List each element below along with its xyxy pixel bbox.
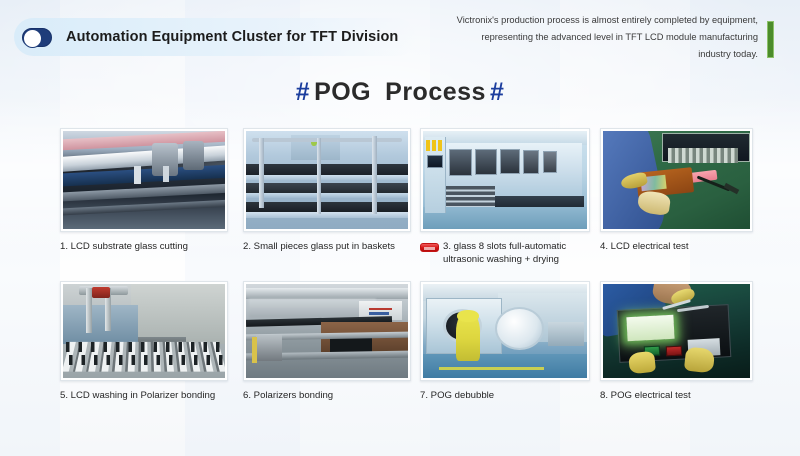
process-row-1: 1. LCD substrate glass cutting 2. Small: [60, 128, 760, 278]
process-step-5-thumbnail[interactable]: [60, 281, 228, 381]
ultrasonic-washing-drying-line-image: [423, 131, 587, 229]
process-step-4-thumbnail[interactable]: [600, 128, 753, 232]
polarizer-bonding-machine-image: [246, 284, 408, 378]
process-step-7-caption-wrap: 7. POG debubble: [420, 390, 598, 403]
section-heading-secondary: Process: [385, 78, 486, 106]
process-step-8-caption: 8. POG electrical test: [600, 390, 691, 403]
process-step-5[interactable]: 5. LCD washing in Polarizer bonding: [60, 281, 235, 403]
process-step-2-thumbnail[interactable]: [243, 128, 411, 232]
process-step-1[interactable]: 1. LCD substrate glass cutting: [60, 128, 235, 254]
process-step-3-caption: 3. glass 8 slots full-automatic ultrason…: [443, 241, 598, 267]
glass-baskets-conveyor-rack-image: [246, 131, 408, 229]
process-step-5-caption-wrap: 5. LCD washing in Polarizer bonding: [60, 390, 235, 403]
process-step-3-caption-wrap: 3. glass 8 slots full-automatic ultrason…: [420, 241, 598, 267]
process-step-1-thumbnail[interactable]: [60, 128, 228, 232]
toggle-switch-icon[interactable]: [22, 28, 52, 47]
process-step-8-caption-wrap: 8. POG electrical test: [600, 390, 760, 403]
process-step-7-caption: 7. POG debubble: [420, 390, 494, 403]
process-step-2-caption: 2. Small pieces glass put in baskets: [243, 241, 395, 254]
process-step-7[interactable]: 7. POG debubble: [420, 281, 598, 403]
header: Automation Equipment Cluster for TFT Div…: [0, 0, 800, 84]
page-title: Automation Equipment Cluster for TFT Div…: [66, 29, 398, 45]
green-accent-bar: [767, 21, 774, 58]
process-step-2[interactable]: 2. Small pieces glass put in baskets: [243, 128, 418, 254]
header-title-pill: Automation Equipment Cluster for TFT Div…: [14, 18, 416, 56]
process-step-5-caption: 5. LCD washing in Polarizer bonding: [60, 390, 215, 403]
process-step-4[interactable]: 4. LCD electrical test: [600, 128, 760, 254]
lcd-washing-roller-conveyor-image: [63, 284, 225, 378]
process-step-2-caption-wrap: 2. Small pieces glass put in baskets: [243, 241, 418, 254]
process-step-4-caption: 4. LCD electrical test: [600, 241, 689, 254]
process-step-1-caption: 1. LCD substrate glass cutting: [60, 241, 188, 254]
hash-left-icon: #: [292, 78, 314, 106]
process-step-3-thumbnail[interactable]: [420, 128, 590, 232]
process-step-6-caption: 6. Polarizers bonding: [243, 390, 333, 403]
process-step-7-thumbnail[interactable]: [420, 281, 590, 381]
intro-block: Victronix's production process is almost…: [454, 12, 774, 64]
lcd-electrical-test-bench-image: [603, 131, 750, 229]
process-step-8-thumbnail[interactable]: [600, 281, 753, 381]
intro-text: Victronix's production process is almost…: [454, 12, 758, 64]
pog-electrical-test-fixture-image: [603, 284, 750, 378]
section-heading-primary: POG: [314, 78, 371, 106]
process-step-6[interactable]: 6. Polarizers bonding: [243, 281, 418, 403]
process-row-2: 5. LCD washing in Polarizer bonding 6. P…: [60, 281, 760, 431]
process-step-6-caption-wrap: 6. Polarizers bonding: [243, 390, 418, 403]
hash-right-icon: #: [486, 78, 508, 106]
section-heading: #POGProcess#: [0, 78, 800, 107]
lcd-substrate-glass-cutting-image: [63, 131, 225, 229]
new-badge: [420, 243, 439, 252]
pog-debubble-autoclave-image: [423, 284, 587, 378]
process-step-3[interactable]: 3. glass 8 slots full-automatic ultrason…: [420, 128, 598, 267]
process-step-1-caption-wrap: 1. LCD substrate glass cutting: [60, 241, 235, 254]
process-steps-grid: 1. LCD substrate glass cutting 2. Small: [60, 128, 760, 431]
process-step-4-caption-wrap: 4. LCD electrical test: [600, 241, 760, 254]
process-step-6-thumbnail[interactable]: [243, 281, 411, 381]
slide-root: Automation Equipment Cluster for TFT Div…: [0, 0, 800, 456]
process-step-8[interactable]: 8. POG electrical test: [600, 281, 760, 403]
